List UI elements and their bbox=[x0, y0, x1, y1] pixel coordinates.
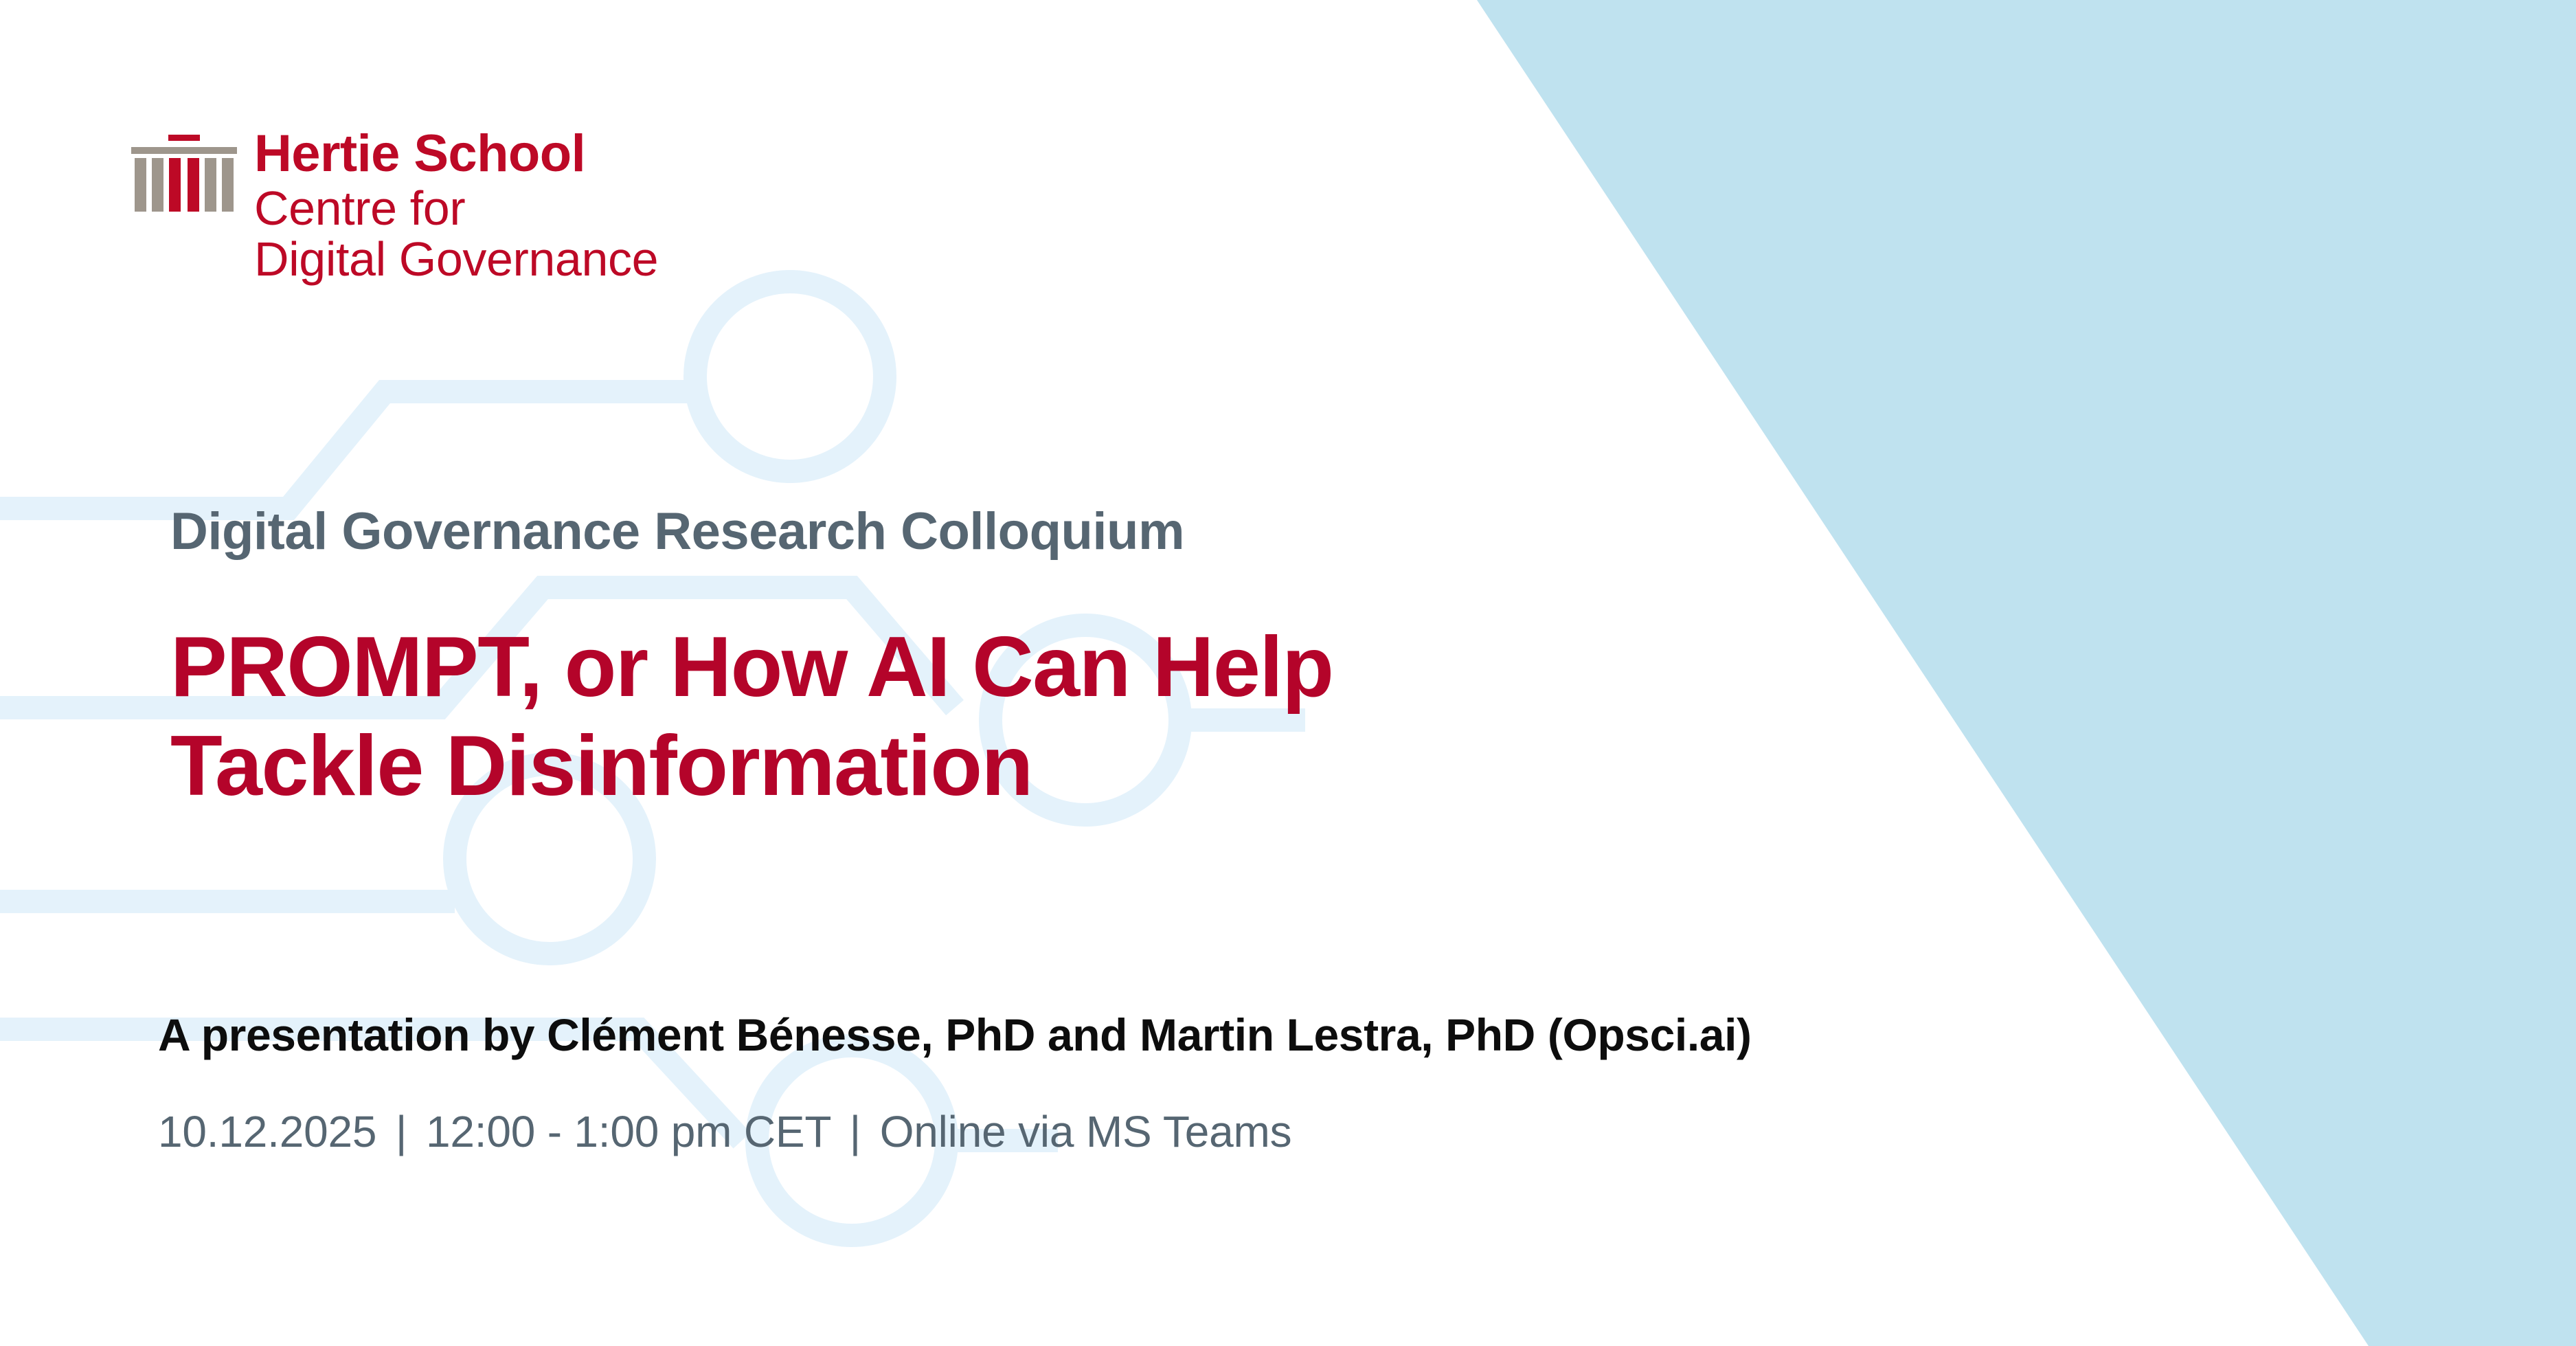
details-separator-2: | bbox=[843, 1107, 868, 1156]
logo-centre-line-1: Centre for bbox=[254, 184, 658, 232]
poster-canvas: Hertie School Centre for Digital Governa… bbox=[0, 0, 2576, 1346]
logo-school-name: Hertie School bbox=[254, 128, 658, 180]
poster-content: Hertie School Centre for Digital Governa… bbox=[0, 0, 2576, 1346]
event-time: 12:00 - 1:00 pm CET bbox=[426, 1107, 831, 1156]
colloquium-series-label: Digital Governance Research Colloquium bbox=[170, 502, 1184, 561]
event-location: Online via MS Teams bbox=[880, 1107, 1292, 1156]
event-date: 10.12.2025 bbox=[158, 1107, 376, 1156]
event-details-line: 10.12.2025 | 12:00 - 1:00 pm CET | Onlin… bbox=[158, 1106, 1291, 1157]
page-title: PROMPT, or How AI Can Help Tackle Disinf… bbox=[170, 618, 1333, 816]
page-title-line-2: Tackle Disinformation bbox=[170, 717, 1333, 816]
page-title-line-1: PROMPT, or How AI Can Help bbox=[170, 618, 1333, 717]
logo-centre-line-2: Digital Governance bbox=[254, 235, 658, 283]
hertie-school-logo: Hertie School Centre for Digital Governa… bbox=[129, 128, 658, 283]
logo-wordmark: Hertie School Centre for Digital Governa… bbox=[254, 128, 658, 283]
brandenburg-gate-columns-icon bbox=[129, 135, 239, 212]
presenters-line: A presentation by Clément Bénesse, PhD a… bbox=[158, 1009, 1752, 1061]
details-separator-1: | bbox=[389, 1107, 414, 1156]
